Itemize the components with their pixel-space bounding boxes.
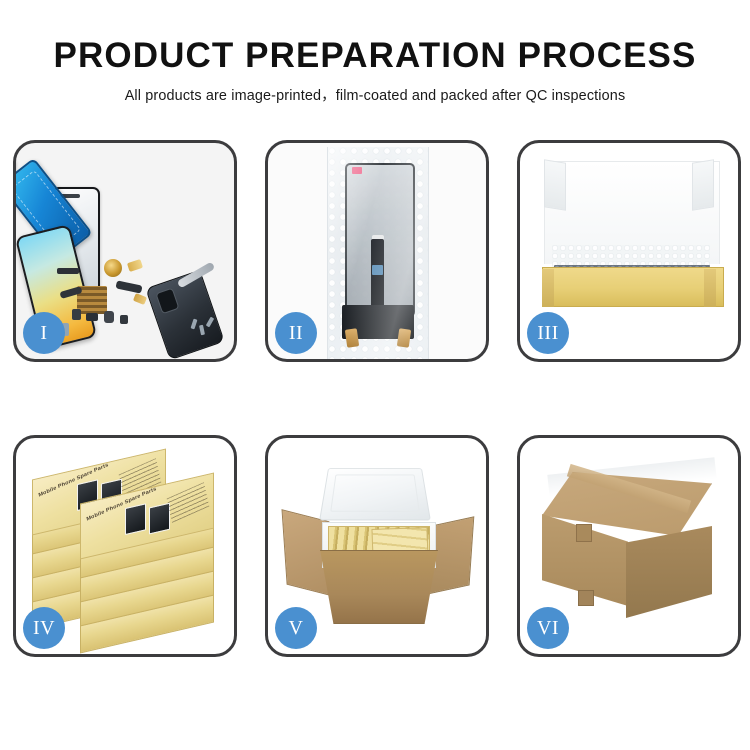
box-artwork-screen-3	[125, 503, 146, 535]
pink-label-sticker	[352, 167, 362, 174]
step-badge-2: II	[275, 312, 317, 354]
page-title: PRODUCT PREPARATION PROCESS	[0, 0, 750, 75]
carton-body	[312, 550, 446, 624]
tray-box-body	[542, 267, 724, 307]
carton-tab-lower	[578, 590, 594, 606]
step-panel-3: III	[517, 140, 741, 362]
header: PRODUCT PREPARATION PROCESS All products…	[0, 0, 750, 105]
gold-connector-1	[127, 259, 143, 272]
repair-tool	[177, 262, 216, 289]
gold-connector-2	[133, 293, 147, 305]
screw-1	[191, 319, 198, 330]
tray-lid-flap-right	[692, 159, 714, 210]
connector-left	[345, 328, 359, 347]
small-part-1	[72, 309, 81, 320]
box-label-text-1: Mobile Phone Spare Parts	[38, 462, 109, 499]
carton-tab-upper	[576, 524, 592, 542]
speaker-bar-part	[57, 268, 79, 274]
small-part-4	[120, 315, 128, 324]
step-panel-6: VI	[517, 435, 741, 657]
product-preparation-infographic: PRODUCT PREPARATION PROCESS All products…	[0, 0, 750, 750]
step-badge-3: III	[527, 312, 569, 354]
tray-lid-flap-left	[544, 159, 566, 210]
tray-end-left	[542, 269, 554, 307]
lcd-driver-ic	[372, 265, 383, 275]
step-badge-4: IV	[23, 607, 65, 649]
step-badge-5: V	[275, 607, 317, 649]
step-badge-6: VI	[527, 607, 569, 649]
steps-grid: I II	[13, 140, 737, 657]
screw-2	[199, 325, 205, 336]
step-panel-5: V	[265, 435, 489, 657]
page-subtitle: All products are image-printed，film-coat…	[0, 75, 750, 105]
step-badge-1: I	[23, 312, 65, 354]
box-artwork-screen-4	[149, 503, 170, 535]
flex-cable-part-2	[115, 280, 142, 293]
tray-end-right	[704, 269, 716, 307]
foam-lid	[319, 468, 431, 520]
small-part-2	[86, 313, 98, 321]
coil-part	[104, 259, 122, 277]
connector-right	[397, 328, 411, 347]
box-spec-text-block-2	[167, 482, 210, 523]
bubble-wrap-bag	[327, 147, 429, 359]
carton-right-face	[626, 526, 712, 618]
screw-3	[206, 317, 214, 328]
step-panel-1: I	[13, 140, 237, 362]
small-part-3	[104, 311, 114, 323]
step-panel-2: II	[265, 140, 489, 362]
step-panel-4: Mobile Phone Spare Parts Mobile Phone Sp…	[13, 435, 237, 657]
